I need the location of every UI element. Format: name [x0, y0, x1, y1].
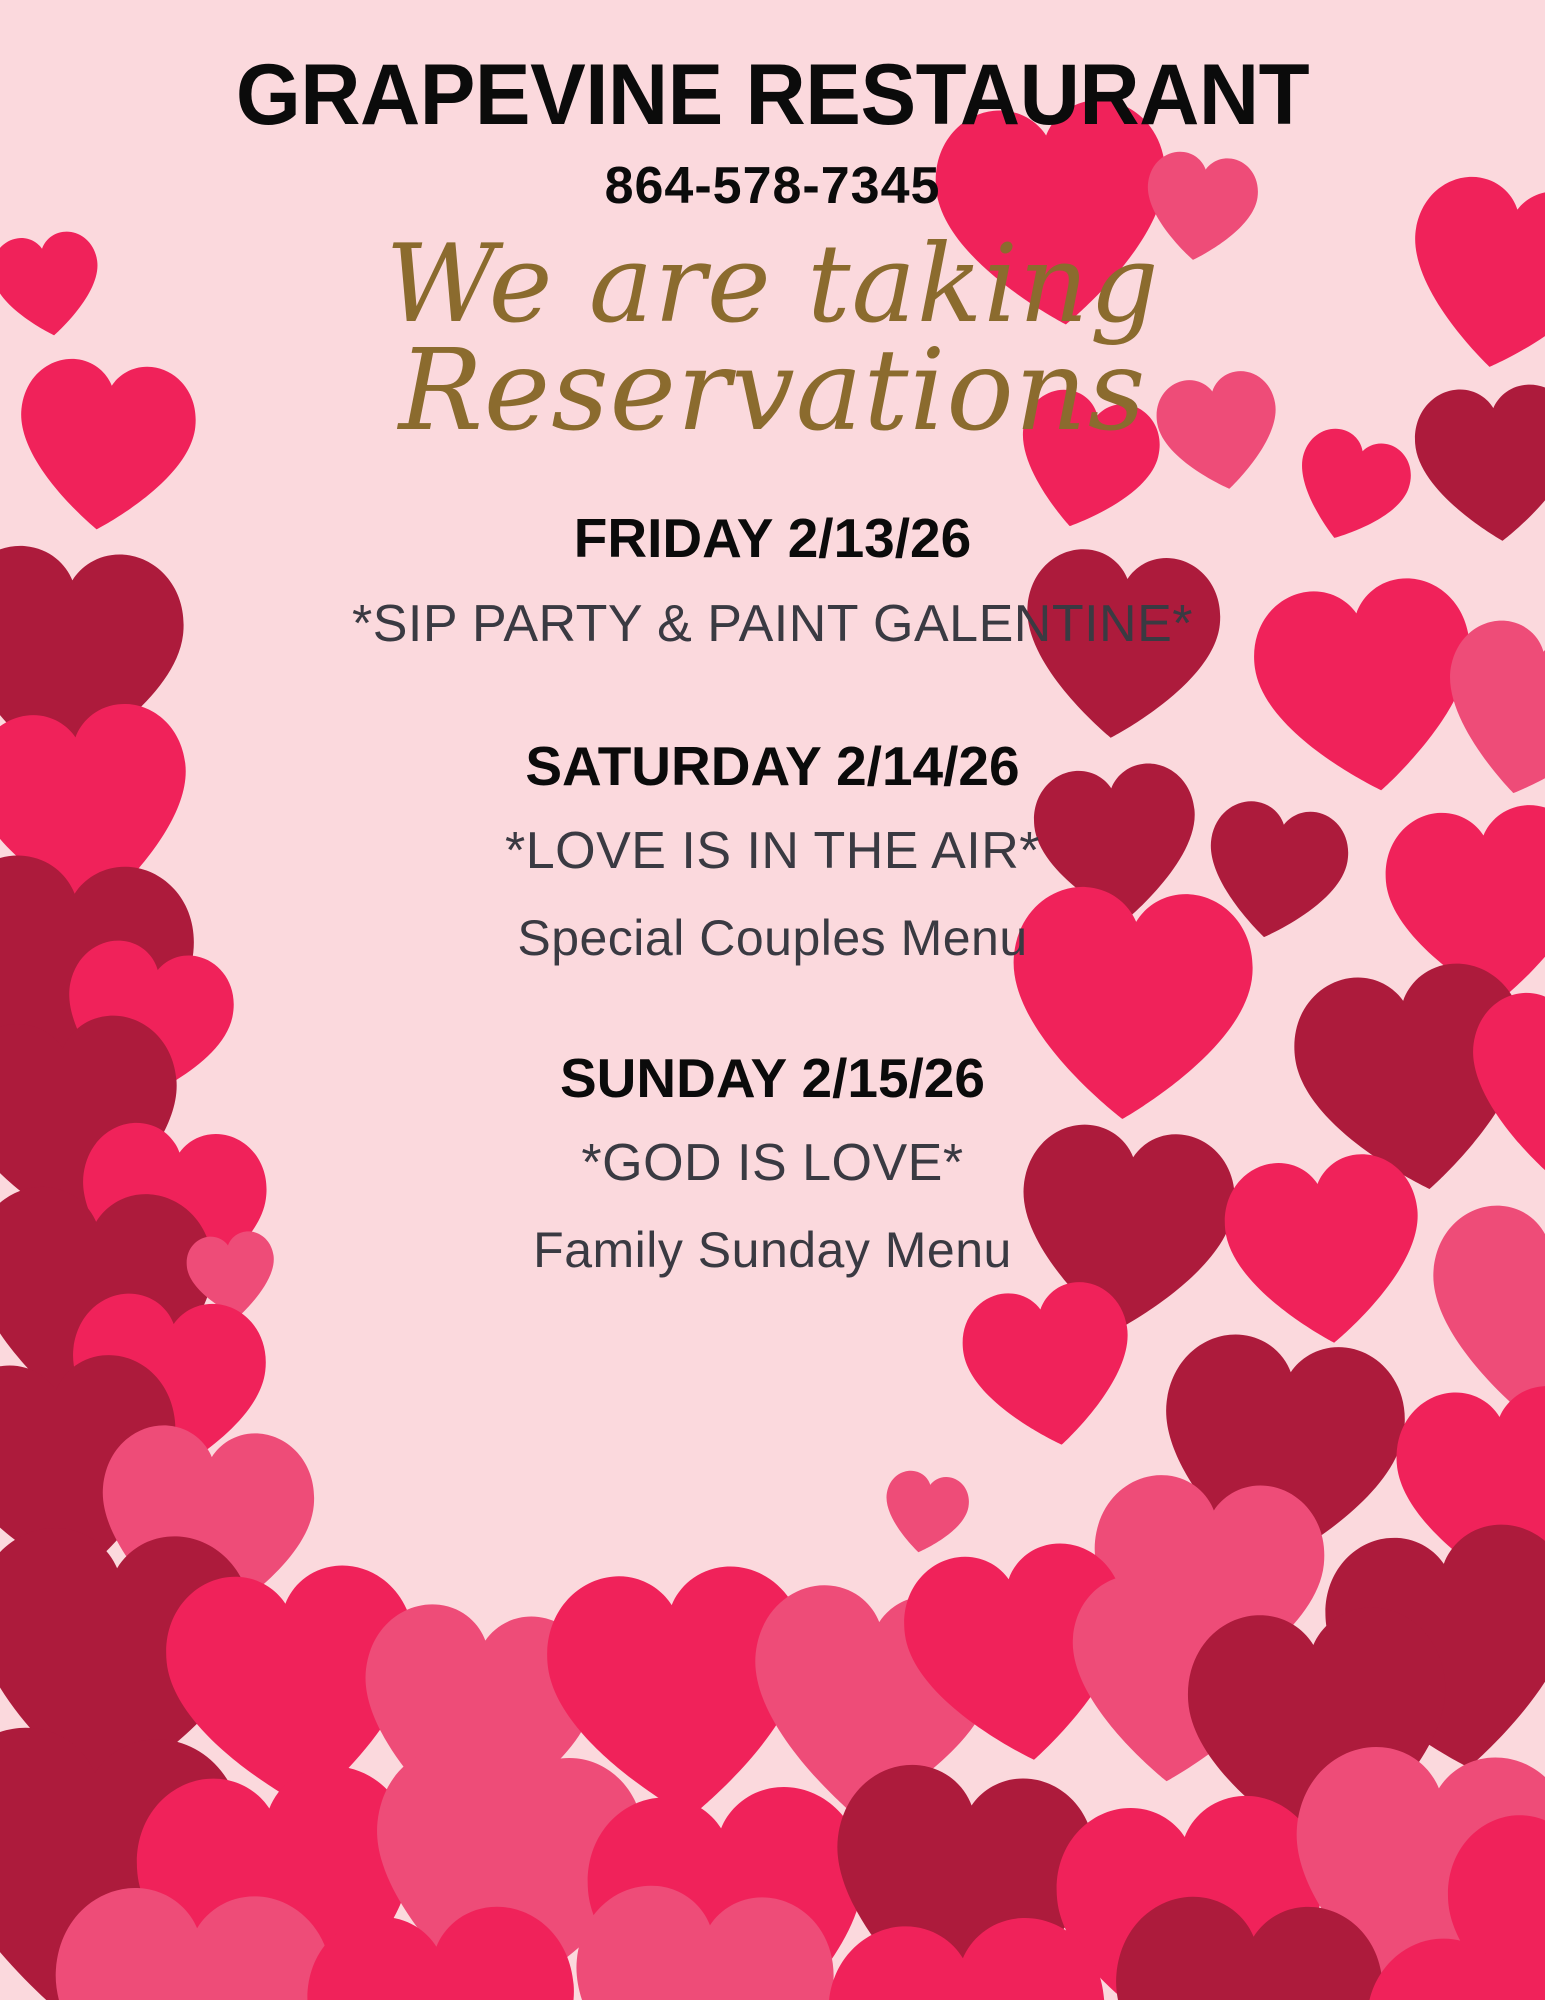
event-block-saturday: SATURDAY 2/14/26 *LOVE IS IN THE AIR* Sp… [0, 656, 1545, 968]
event-headline-saturday: *LOVE IS IN THE AIR* [0, 795, 1545, 882]
event-block-sunday: SUNDAY 2/15/26 *GOD IS LOVE* Family Sund… [0, 968, 1545, 1280]
event-headline-friday: *SIP PARTY & PAINT GALENTINE* [0, 568, 1545, 655]
phone-number[interactable]: 864-578-7345 [0, 138, 1545, 212]
script-line-2: Reservations [0, 334, 1545, 448]
event-day-saturday: SATURDAY 2/14/26 [0, 738, 1545, 796]
event-block-friday: FRIDAY 2/13/26 *SIP PARTY & PAINT GALENT… [0, 448, 1545, 655]
page-title: GRAPEVINE RESTAURANT [23, 0, 1522, 138]
event-subline-sunday: Family Sunday Menu [0, 1195, 1545, 1280]
script-line-1: We are taking [0, 230, 1545, 340]
event-headline-sunday: *GOD IS LOVE* [0, 1107, 1545, 1194]
valentines-reservation-flyer: GRAPEVINE RESTAURANT 864-578-7345 We are… [0, 0, 1545, 2000]
event-day-sunday: SUNDAY 2/15/26 [0, 1050, 1545, 1108]
event-day-friday: FRIDAY 2/13/26 [0, 510, 1545, 568]
event-subline-saturday: Special Couples Menu [0, 883, 1545, 968]
script-headline: We are taking Reservations [0, 212, 1545, 448]
